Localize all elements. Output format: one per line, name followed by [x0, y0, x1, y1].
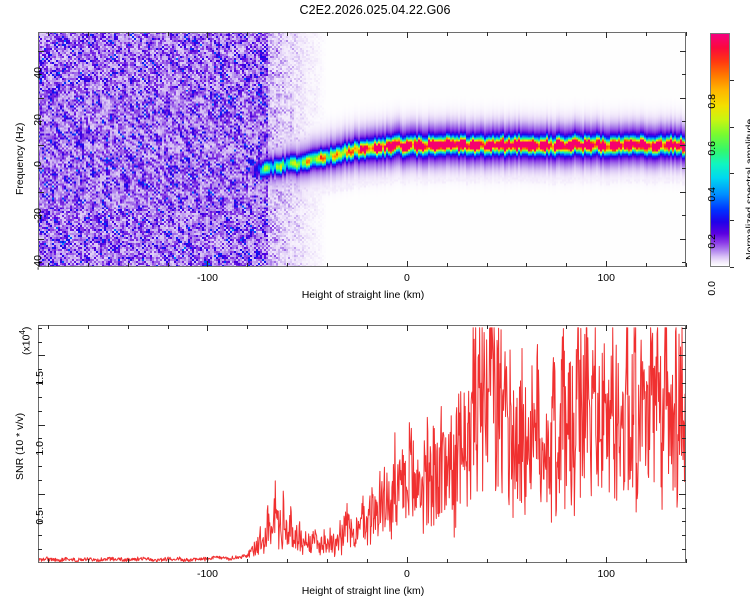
spectrogram-y-tick [38, 51, 44, 52]
snr-y-tick-right [682, 521, 686, 522]
spectrogram-x-tick-label: -100 [177, 272, 237, 284]
snr-x-tick [487, 559, 488, 563]
spectrogram-plot-area [38, 32, 686, 267]
snr-x-tick [88, 559, 89, 563]
snr-x-tick-top [646, 325, 647, 329]
spectrogram-x-tick [128, 263, 129, 267]
snr-y-tick-label: 1.5 [34, 371, 46, 399]
snr-x-tick-top [367, 325, 368, 329]
snr-plot-area [38, 325, 686, 563]
snr-x-tick-top [88, 325, 89, 329]
spectrogram-x-tick-top [487, 32, 488, 36]
spectrogram-x-tick [526, 263, 527, 267]
snr-x-tick-top [168, 325, 169, 329]
snr-x-tick [367, 559, 368, 563]
spectrogram-x-tick-top [367, 32, 368, 36]
snr-trace [38, 328, 686, 562]
spectrogram-x-axis-label: Height of straight line (km) [238, 289, 488, 301]
spectrogram-y-tick [38, 239, 44, 240]
spectrogram-x-tick-top [566, 32, 567, 36]
snr-y-tick [38, 494, 45, 495]
figure-title: C2E2.2026.025.04.22.G06 [0, 3, 750, 17]
spectrogram-y-tick [38, 98, 44, 99]
snr-x-tick-top [447, 325, 448, 329]
snr-y-tick-right [682, 328, 686, 329]
colorbar-label: Normalized spectral amplitude [744, 119, 750, 260]
colorbar-tick [730, 173, 734, 174]
spectrogram-image [38, 32, 686, 267]
snr-y-tick [38, 438, 42, 439]
snr-y-tick-right [682, 411, 686, 412]
snr-x-tick [686, 559, 687, 563]
snr-y-tick-right [679, 425, 686, 426]
spectrogram-x-tick-top [207, 32, 208, 38]
snr-x-tick [407, 557, 408, 563]
snr-x-tick [447, 559, 448, 563]
spectrogram-y-tick [38, 145, 44, 146]
snr-x-tick-top [128, 325, 129, 329]
snr-x-tick [526, 559, 527, 563]
snr-x-tick [247, 559, 248, 563]
colorbar-tick-label: 0.4 [706, 187, 718, 215]
spectrogram-x-tick [447, 263, 448, 267]
spectrogram-x-tick-top [88, 32, 89, 36]
colorbar-tick [730, 127, 734, 128]
spectrogram-x-tick-top [128, 32, 129, 36]
snr-y-tick-right [682, 549, 686, 550]
spectrogram-x-tick [88, 263, 89, 267]
snr-y-tick-right [682, 438, 686, 439]
snr-x-tick-top [487, 325, 488, 329]
snr-x-tick [128, 559, 129, 563]
snr-y-tick [38, 355, 45, 356]
spectrogram-y-tick [38, 192, 44, 193]
spectrogram-x-tick-label: 100 [576, 272, 636, 284]
spectrogram-x-tick [407, 261, 408, 267]
snr-x-tick [207, 557, 208, 563]
spectrogram-x-tick [327, 263, 328, 267]
snr-y-tick [38, 328, 42, 329]
spectrogram-x-tick-top [646, 32, 647, 36]
snr-y-tick-label: 1.0 [34, 441, 46, 469]
snr-y-tick-right [682, 369, 686, 370]
spectrogram-x-tick [606, 261, 607, 267]
snr-x-axis-label: Height of straight line (km) [238, 585, 488, 597]
spectrogram-y-tick-right [682, 215, 686, 216]
snr-y-tick-right [682, 535, 686, 536]
snr-y-tick-right [682, 452, 686, 453]
snr-x-tick-label: 100 [576, 568, 636, 580]
colorbar-tick-label: 0.6 [706, 141, 718, 169]
snr-y-tick-right [682, 508, 686, 509]
snr-y-tick-right [682, 383, 686, 384]
snr-y-axis-exponent: (x104) [18, 327, 33, 355]
snr-x-tick-top [287, 325, 288, 329]
snr-y-tick [38, 411, 42, 412]
colorbar-tick [730, 267, 734, 268]
snr-y-tick-right [679, 494, 686, 495]
snr-x-tick-label: 0 [377, 568, 437, 580]
spectrogram-y-tick-right [682, 168, 686, 169]
spectrogram-x-tick-top [327, 32, 328, 36]
snr-y-tick [38, 425, 45, 426]
snr-x-tick-top [247, 325, 248, 329]
snr-y-tick-right [682, 466, 686, 467]
spectrogram-y-tick-right [680, 51, 686, 52]
snr-x-tick [287, 559, 288, 563]
spectrogram-y-tick-right [680, 145, 686, 146]
snr-y-tick [38, 342, 42, 343]
snr-x-tick-top [48, 325, 49, 329]
spectrogram-x-tick [646, 263, 647, 267]
spectrogram-y-tick-right [680, 98, 686, 99]
spectrogram-x-tick-top [48, 32, 49, 36]
spectrogram-x-tick [48, 263, 49, 267]
snr-y-tick [38, 480, 42, 481]
spectrogram-y-tick-right [682, 262, 686, 263]
figure-canvas: C2E2.2026.025.04.22.G06 -100010040200-20… [0, 0, 750, 600]
spectrogram-y-tick-right [682, 121, 686, 122]
spectrogram-x-tick [367, 263, 368, 267]
snr-exponent-power: 4 [18, 330, 27, 334]
spectrogram-y-tick-right [680, 239, 686, 240]
snr-x-tick [646, 559, 647, 563]
spectrogram-y-tick-label: 20 [32, 114, 44, 140]
snr-x-tick-top [327, 325, 328, 329]
spectrogram-y-tick-right [680, 192, 686, 193]
spectrogram-x-tick [287, 263, 288, 267]
spectrogram-x-tick-top [168, 32, 169, 36]
spectrogram-y-tick-label: -20 [32, 208, 44, 234]
spectrogram-x-tick [566, 263, 567, 267]
spectrogram-y-tick-label: 0 [32, 161, 44, 187]
snr-x-tick-top [526, 325, 527, 329]
snr-x-tick-top [407, 325, 408, 331]
spectrogram-x-tick [686, 263, 687, 267]
snr-y-tick-right [682, 480, 686, 481]
spectrogram-x-tick-label: 0 [377, 272, 437, 284]
snr-x-tick [168, 559, 169, 563]
snr-x-tick [48, 559, 49, 563]
snr-y-tick-right [679, 355, 686, 356]
snr-line-series [38, 325, 686, 563]
spectrogram-y-axis-label: Frequency (Hz) [14, 123, 26, 195]
spectrogram-y-tick-right [682, 74, 686, 75]
colorbar-tick [730, 80, 734, 81]
spectrogram-x-tick-top [606, 32, 607, 38]
colorbar-tick-label: 0.0 [706, 281, 718, 309]
spectrogram-x-tick [207, 261, 208, 267]
snr-x-tick-top [566, 325, 567, 329]
colorbar-tick-label: 0.8 [706, 94, 718, 122]
spectrogram-x-tick-top [447, 32, 448, 36]
snr-x-tick [327, 559, 328, 563]
snr-x-tick-top [606, 325, 607, 331]
spectrogram-x-tick [247, 263, 248, 267]
colorbar-tick-label: 0.2 [706, 234, 718, 262]
snr-y-tick-label: 0.5 [34, 510, 46, 538]
snr-y-tick-right [682, 342, 686, 343]
colorbar-tick [730, 220, 734, 221]
snr-x-tick-top [207, 325, 208, 331]
snr-exponent-prefix: (x10 [21, 335, 33, 355]
spectrogram-y-tick-label: -40 [32, 255, 44, 281]
snr-y-tick [38, 508, 42, 509]
spectrogram-x-tick-top [247, 32, 248, 36]
spectrogram-x-tick [487, 263, 488, 267]
snr-x-tick [566, 559, 567, 563]
spectrogram-x-tick [168, 263, 169, 267]
snr-y-tick-right [682, 397, 686, 398]
snr-exponent-suffix: ) [21, 327, 33, 331]
spectrogram-x-tick-top [407, 32, 408, 38]
snr-y-tick [38, 549, 42, 550]
snr-x-tick-top [686, 325, 687, 329]
spectrogram-y-tick-label: 40 [32, 67, 44, 93]
spectrogram-x-tick-top [526, 32, 527, 36]
snr-y-axis-label: SNR (10 * v/v) [14, 413, 26, 480]
snr-x-tick [606, 557, 607, 563]
snr-x-tick-label: -100 [177, 568, 237, 580]
spectrogram-x-tick-top [686, 32, 687, 36]
spectrogram-x-tick-top [287, 32, 288, 36]
